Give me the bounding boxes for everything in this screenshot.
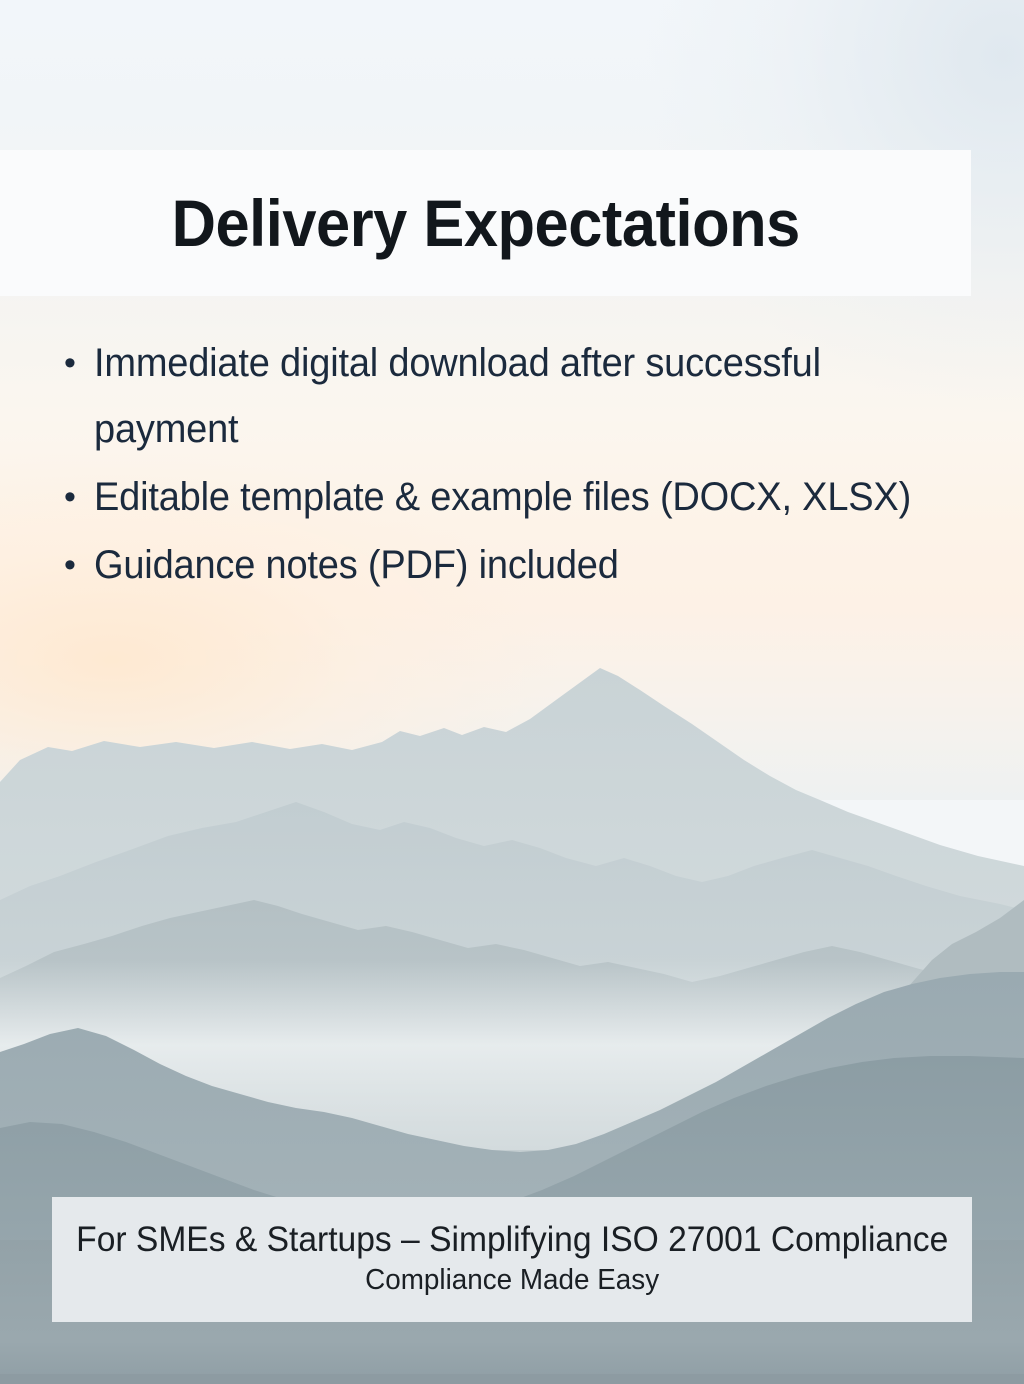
- list-item-label: Editable template & example files (DOCX,…: [94, 464, 919, 530]
- footer-tagline: Compliance Made Easy: [365, 1262, 659, 1300]
- title-banner: Delivery Expectations: [0, 150, 971, 296]
- bullet-dot-icon: •: [52, 532, 94, 598]
- list-item: • Editable template & example files (DOC…: [52, 464, 962, 530]
- bullet-dot-icon: •: [52, 330, 94, 396]
- footer-banner: For SMEs & Startups – Simplifying ISO 27…: [52, 1197, 972, 1322]
- list-item-label: Immediate digital download after success…: [94, 330, 919, 462]
- bullet-dot-icon: •: [52, 464, 94, 530]
- list-item-label: Guidance notes (PDF) included: [94, 532, 919, 598]
- bullet-list: • Immediate digital download after succe…: [52, 330, 962, 600]
- page-title: Delivery Expectations: [171, 185, 799, 261]
- list-item: • Immediate digital download after succe…: [52, 330, 962, 462]
- list-item: • Guidance notes (PDF) included: [52, 532, 962, 598]
- slide-canvas: Delivery Expectations • Immediate digita…: [0, 0, 1024, 1384]
- footer-headline: For SMEs & Startups – Simplifying ISO 27…: [76, 1219, 948, 1260]
